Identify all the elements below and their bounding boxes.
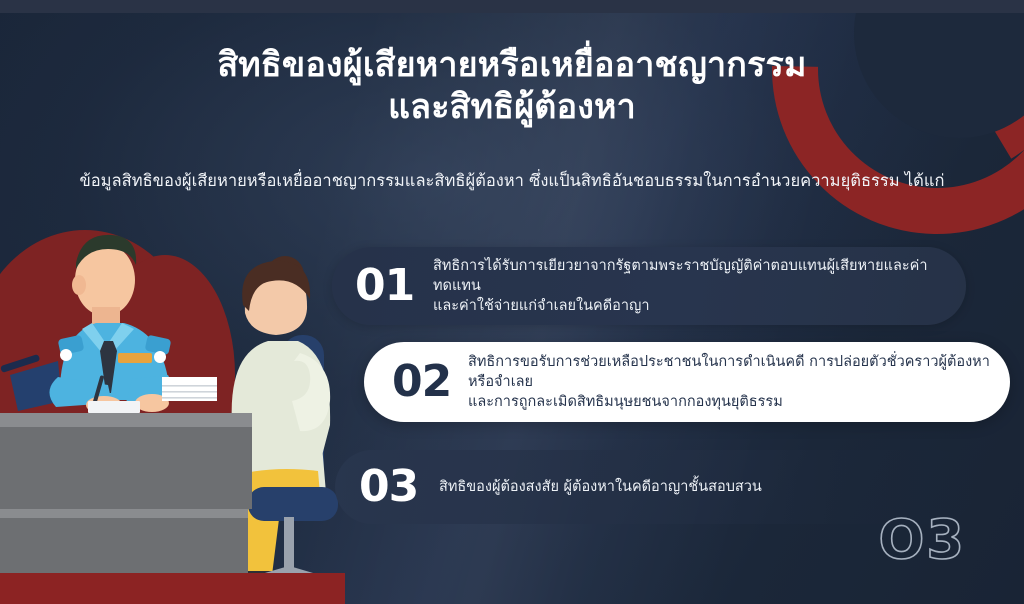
slide-root: สิทธิของผู้เสียหายหรือเหยื่ออาชญากรรม แล… [0,0,1024,604]
page-title-line-2: และสิทธิผู้ต้องหา [0,86,1024,128]
page-title-line-1: สิทธิของผู้เสียหายหรือเหยื่ออาชญากรรม [0,44,1024,86]
page-subtitle: ข้อมูลสิทธิของผู้เสียหายหรือเหยื่ออาชญาก… [0,170,1024,192]
page-number-watermark: O3 [879,512,966,568]
item-text-03: สิทธิของผู้ต้องสงสัย ผู้ต้องหาในคดีอาญาช… [439,477,762,497]
item-text-01: สิทธิการได้รับการเยียวยาจากรัฐตามพระราชบ… [433,256,966,316]
list-item-02[interactable]: 02 สิทธิการขอรับการช่วยเหลือประชาชนในการ… [364,342,1010,422]
item-number-01: 01 [355,264,433,308]
page-header: สิทธิของผู้เสียหายหรือเหยื่ออาชญากรรม แล… [0,44,1024,128]
item-number-03: 03 [359,465,439,509]
item-number-02: 02 [392,360,468,404]
list-item-01[interactable]: 01 สิทธิการได้รับการเยียวยาจากรัฐตามพระร… [332,247,966,325]
item-text-02: สิทธิการขอรับการช่วยเหลือประชาชนในการดำเ… [468,352,1010,412]
